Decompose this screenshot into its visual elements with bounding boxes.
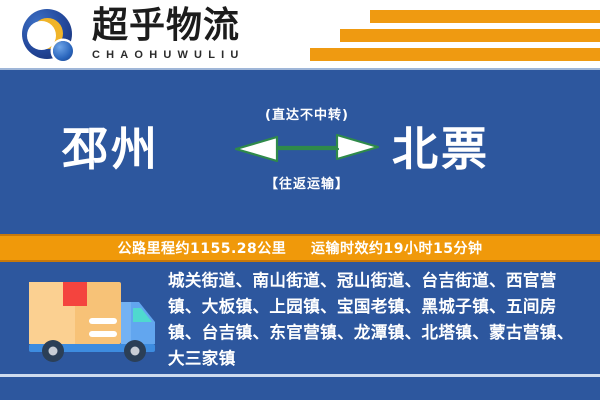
bidirectional-arrow-icon [232,127,382,167]
stripe-1 [370,10,600,23]
delivery-truck-icon [25,274,165,364]
brand-block: 超乎物流 CHAOHUWULIU [92,6,245,62]
header: 超乎物流 CHAOHUWULIU [0,0,600,70]
route-band: 邳州 (直达不中转) 【往返运输】 北票 [0,70,600,234]
brand-name-en: CHAOHUWULIU [92,48,245,62]
chaohu-logistics-logo-icon [22,9,78,65]
destination-city-label: 北票 [392,120,490,178]
logo-dot-shape [53,41,73,61]
coverage-section: 城关街道、南山街道、冠山街道、台吉街道、西官营镇、大板镇、上园镇、宝国老镇、黑城… [0,262,600,374]
coverage-areas-text: 城关街道、南山街道、冠山街道、台吉街道、西官营镇、大板镇、上园镇、宝国老镇、黑城… [168,268,588,372]
origin-city-label: 邳州 [62,120,160,178]
footer-band [0,377,600,400]
round-trip-note: 【往返运输】 [228,173,386,192]
brand-name-cn: 超乎物流 [92,6,245,46]
route-middle-group: (直达不中转) 【往返运输】 [228,104,386,192]
header-stripes-decoration [270,0,600,70]
info-bar-content: 公路里程约1155.28公里 运输时效约19小时15分钟 [118,238,483,258]
stripe-2 [340,29,600,42]
direct-service-note: (直达不中转) [228,104,386,123]
logistics-route-poster: 超乎物流 CHAOHUWULIU 邳州 (直达不中转) 【往返运输】 [0,0,600,400]
logo-crescent-inner-shape [27,21,56,50]
stripe-3 [310,48,600,61]
route-info-bar: 公路里程约1155.28公里 运输时效约19小时15分钟 [0,234,600,262]
distance-text: 公路里程约1155.28公里 [118,241,287,257]
duration-text: 运输时效约19小时15分钟 [311,241,482,257]
